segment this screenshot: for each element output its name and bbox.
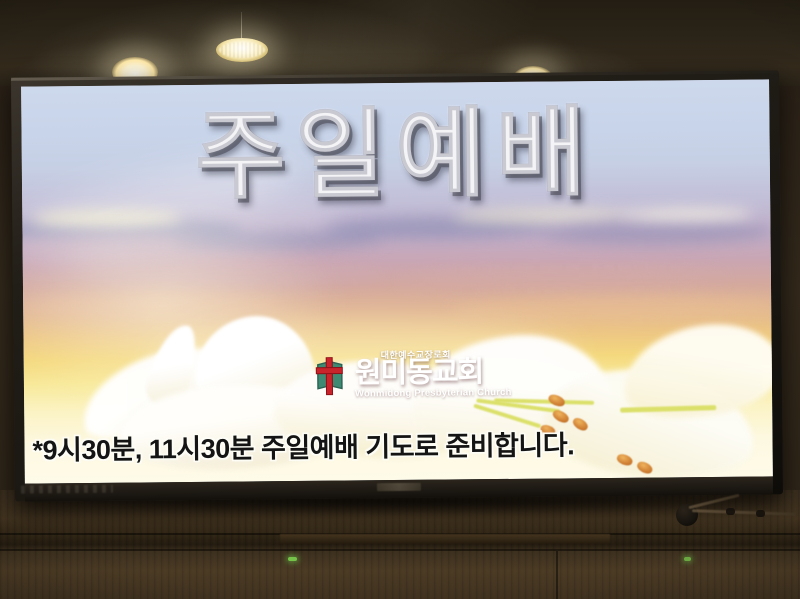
wall-seam-vertical <box>556 551 558 599</box>
room-scene: 주일예배 대한예수교장로회 원미동교회 Wonmidong Presbyteri… <box>0 0 800 599</box>
television[interactable]: 주일예배 대한예수교장로회 원미동교회 Wonmidong Presbyteri… <box>11 70 783 501</box>
pendant-cord <box>241 12 242 40</box>
green-led-indicator-right <box>684 557 691 561</box>
tv-osd-strip <box>21 485 113 494</box>
wall-ledge <box>280 534 610 544</box>
cable-clip-2 <box>756 510 765 517</box>
cable-clip <box>726 508 735 515</box>
tv-screen[interactable]: 주일예배 대한예수교장로회 원미동교회 Wonmidong Presbyteri… <box>21 79 773 483</box>
green-led-indicator <box>288 557 297 561</box>
slide-title: 주일예배 <box>21 101 770 206</box>
pendant-crystals <box>219 42 265 58</box>
cross-and-book-icon <box>311 354 349 396</box>
church-name-english: Wonmidong Presbyterian Church <box>355 388 512 399</box>
wall-seam-horizontal-2 <box>0 549 800 551</box>
church-name-korean: 원미동교회 <box>355 358 512 389</box>
tv-brand-logo <box>377 483 421 491</box>
church-logo: 대한예수교장로회 원미동교회 Wonmidong Presbyterian Ch… <box>311 350 512 399</box>
church-logo-text: 대한예수교장로회 원미동교회 Wonmidong Presbyterian Ch… <box>355 350 512 399</box>
slide-caption: *9시30분, 11시30분 주일예배 기도로 준비합니다. <box>32 423 574 467</box>
